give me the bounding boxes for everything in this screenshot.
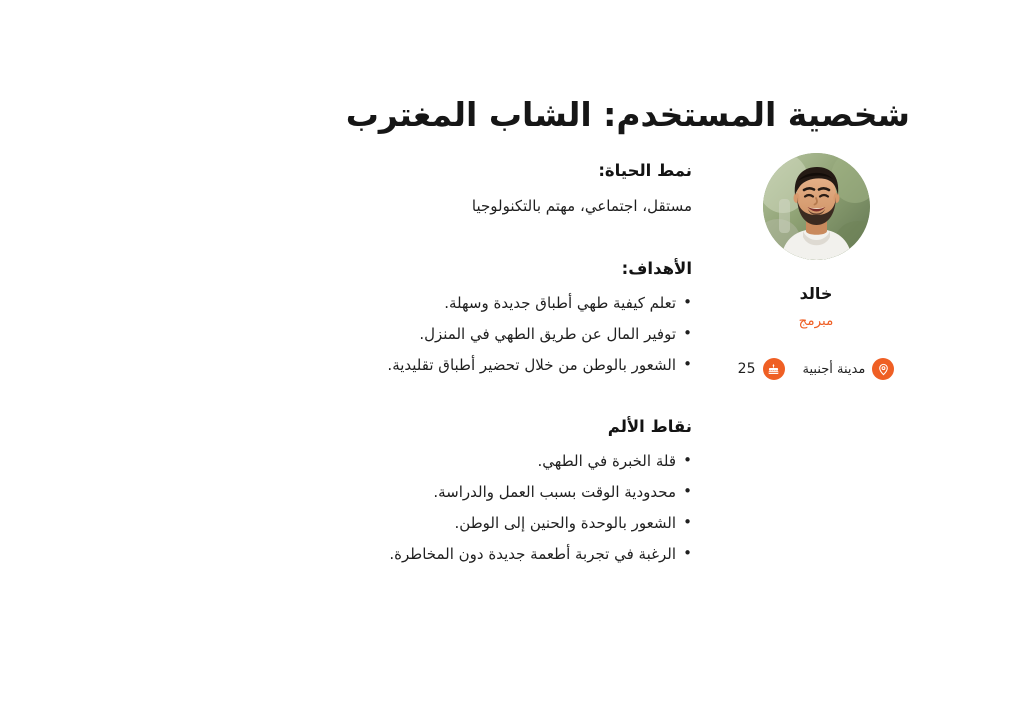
list-item: محدودية الوقت بسبب العمل والدراسة. <box>330 482 692 504</box>
profile-meta-row: مدينة أجنبية 25 <box>716 358 916 380</box>
section-goals: الأهداف: تعلم كيفية طهي أطباق جديدة وسهل… <box>330 258 692 377</box>
pain-points-heading: نقاط الألم <box>330 416 692 437</box>
section-lifestyle: نمط الحياة: مستقل، اجتماعي، مهتم بالتكنو… <box>330 160 692 218</box>
list-item: قلة الخبرة في الطهي. <box>330 451 692 473</box>
section-pain-points: نقاط الألم قلة الخبرة في الطهي. محدودية … <box>330 416 692 566</box>
list-item: الشعور بالوحدة والحنين إلى الوطن. <box>330 513 692 535</box>
avatar <box>763 153 870 260</box>
persona-details: نمط الحياة: مستقل، اجتماعي، مهتم بالتكنو… <box>330 160 692 575</box>
pain-points-list: قلة الخبرة في الطهي. محدودية الوقت بسبب … <box>330 451 692 566</box>
profile-meta-location: مدينة أجنبية <box>803 358 895 380</box>
profile-location-label: مدينة أجنبية <box>803 363 866 376</box>
profile-card: خالد مبرمج مدينة أجنبية <box>716 153 916 380</box>
profile-name: خالد <box>716 284 916 303</box>
spacer-after-lifestyle <box>330 224 692 258</box>
goals-heading: الأهداف: <box>330 258 692 279</box>
profile-meta-age: 25 <box>738 358 785 380</box>
birthday-cake-icon <box>763 358 785 380</box>
list-item: تعلم كيفية طهي أطباق جديدة وسهلة. <box>330 293 692 315</box>
list-item: الرغبة في تجربة أطعمة جديدة دون المخاطرة… <box>330 544 692 566</box>
location-pin-icon <box>872 358 894 380</box>
persona-page: شخصية المستخدم: الشاب المغترب نمط الحياة… <box>0 0 1024 710</box>
lifestyle-heading: نمط الحياة: <box>330 160 692 181</box>
profile-role: مبرمج <box>716 313 916 329</box>
page-title: شخصية المستخدم: الشاب المغترب <box>110 94 910 135</box>
goals-list: تعلم كيفية طهي أطباق جديدة وسهلة. توفير … <box>330 293 692 377</box>
list-item: الشعور بالوطن من خلال تحضير أطباق تقليدي… <box>330 355 692 377</box>
list-item: توفير المال عن طريق الطهي في المنزل. <box>330 324 692 346</box>
spacer-after-goals <box>330 386 692 416</box>
profile-age-label: 25 <box>738 362 756 376</box>
lifestyle-body: مستقل، اجتماعي، مهتم بالتكنولوجيا <box>330 195 692 218</box>
